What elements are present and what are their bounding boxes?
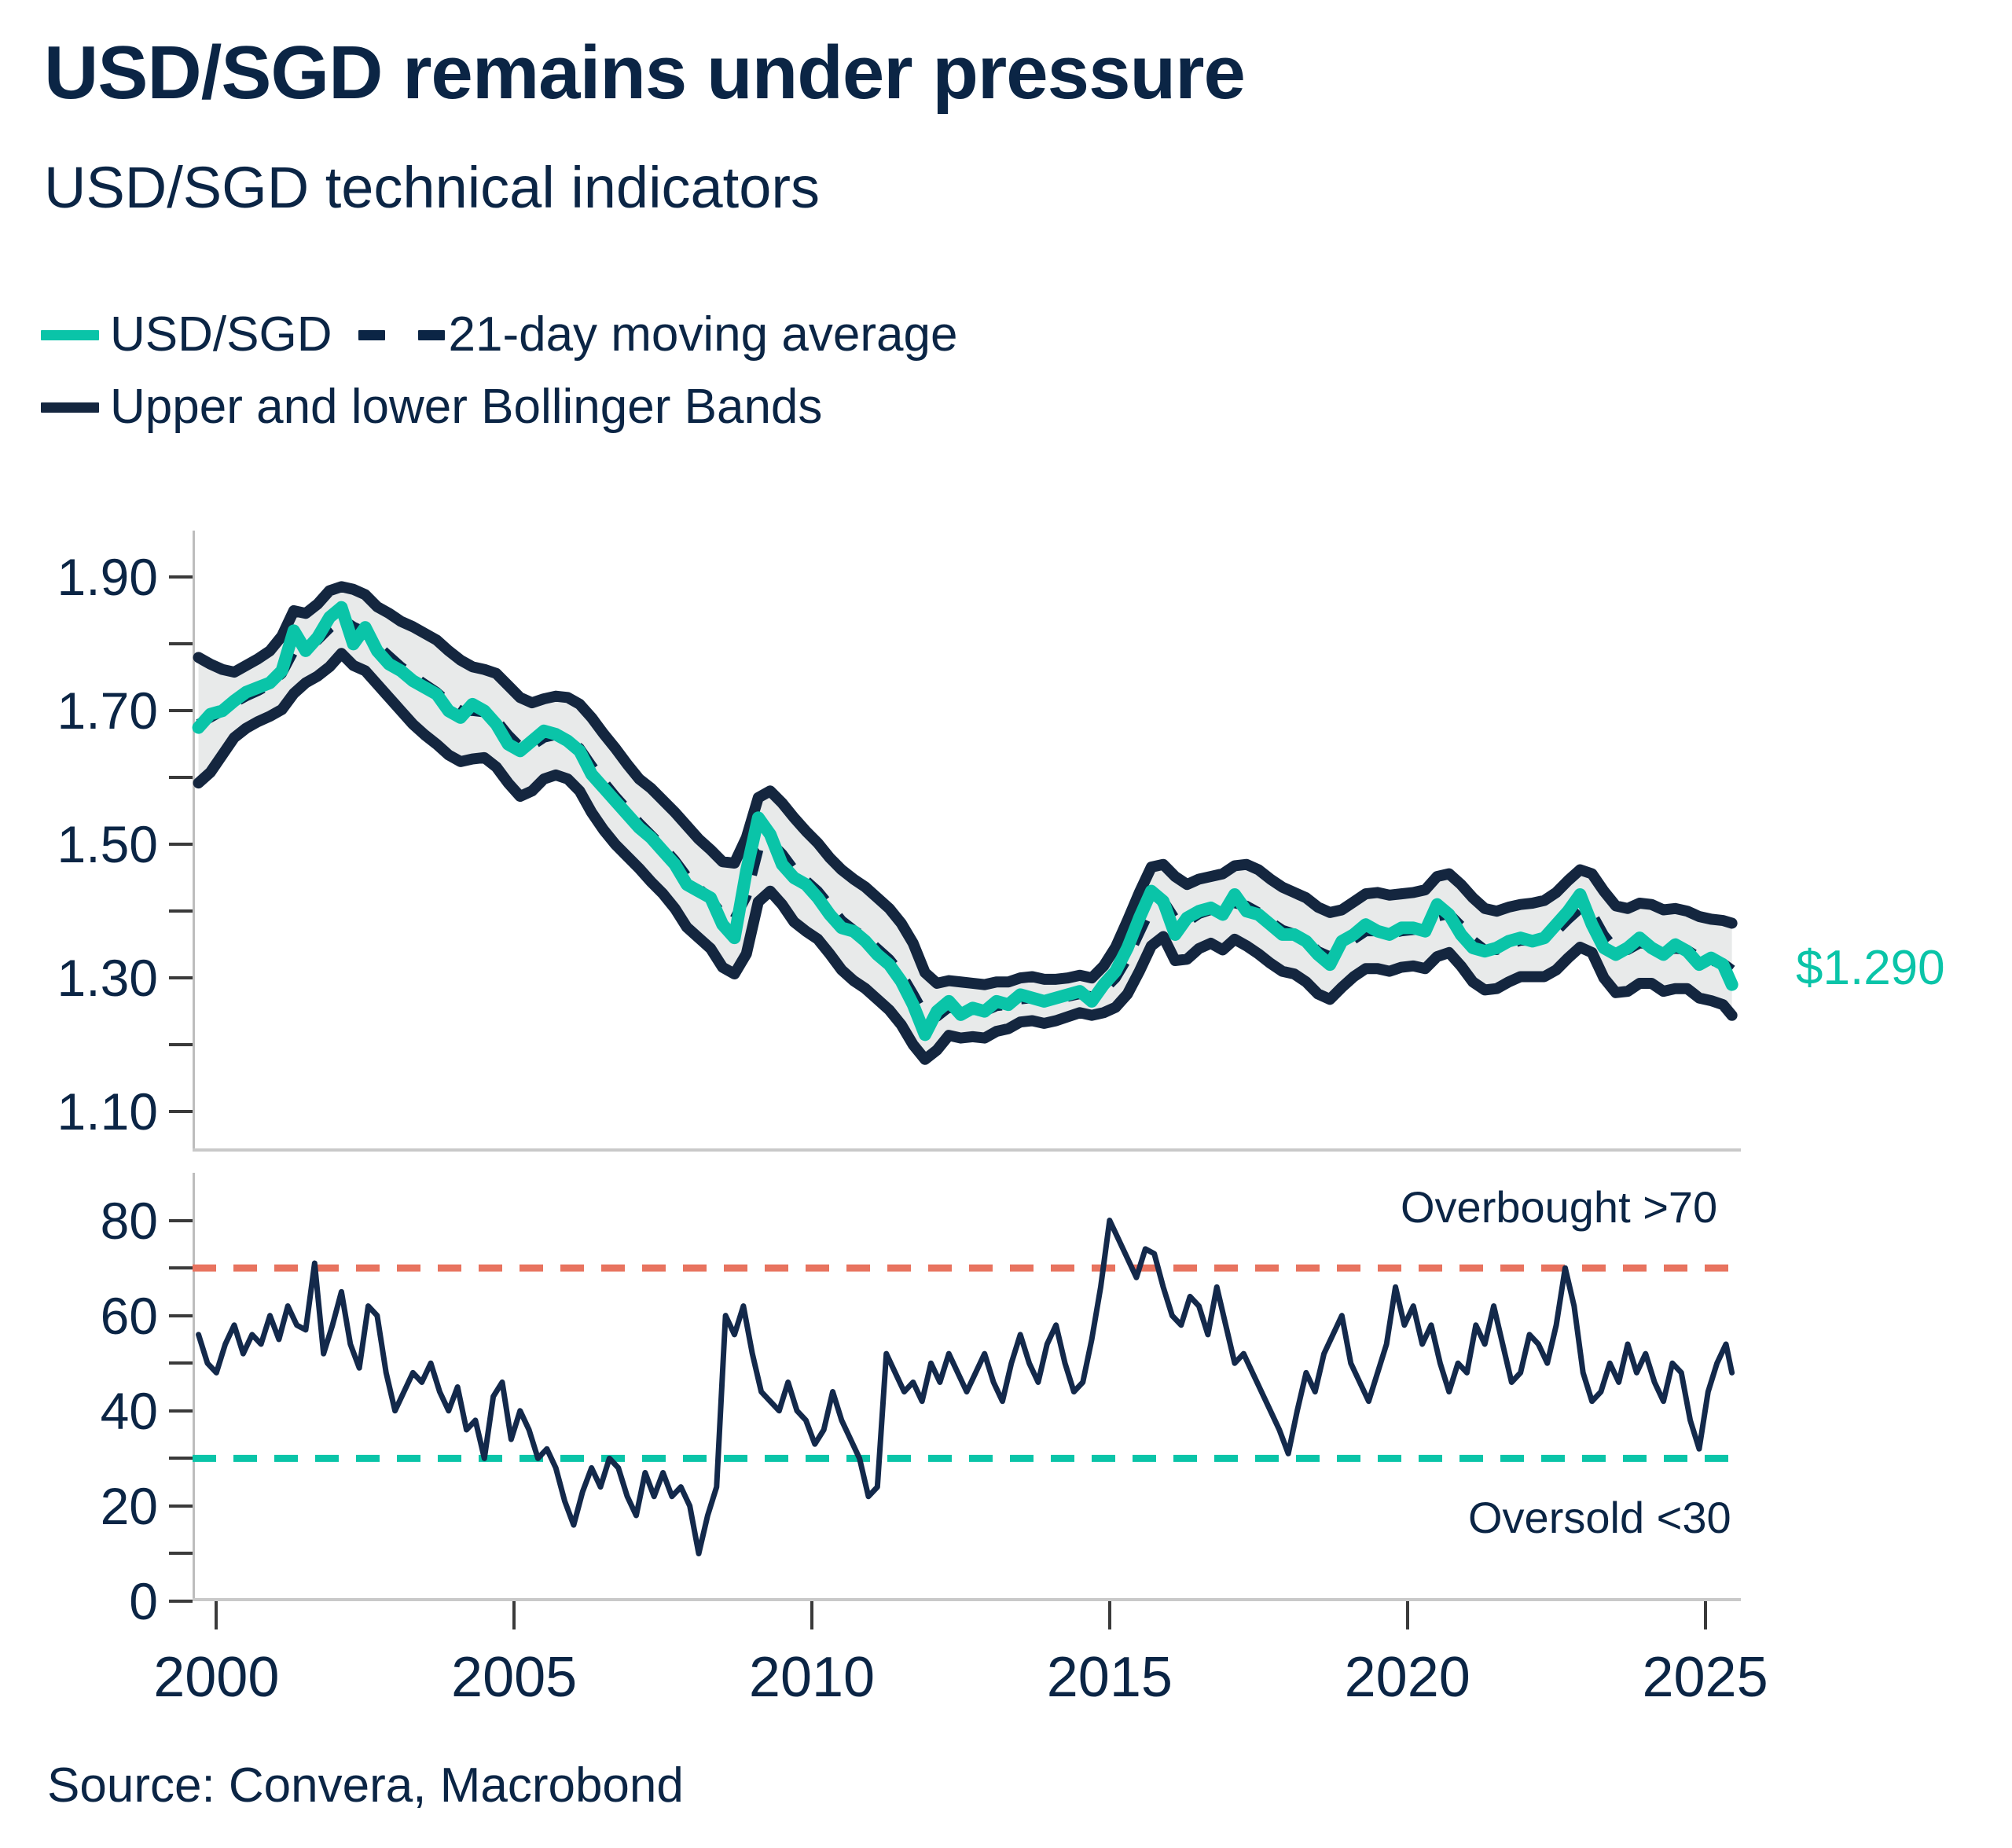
x-tick [1108,1601,1111,1629]
y-tick [169,1110,193,1113]
legend-row-2: Upper and lower Bollinger Bands [41,371,957,443]
y-tick-minor [169,1043,193,1046]
y-tick-label: 1.50 [57,814,158,874]
x-tick [1406,1601,1409,1629]
oversold-annotation: Oversold <30 [1468,1492,1731,1543]
legend-item-bollinger: Upper and lower Bollinger Bands [41,383,822,432]
x-tick-label: 2005 [451,1645,577,1710]
y-tick-label: 1.70 [57,681,158,740]
x-tick [215,1601,218,1629]
y-tick-minor [169,1552,193,1555]
legend-item-usdsgd: USD/SGD [41,310,332,359]
x-tick [810,1601,813,1629]
chart-subtitle: USD/SGD technical indicators [44,154,820,221]
latest-value-callout: $1.290 [1796,940,1945,996]
y-tick [169,1314,193,1317]
price-plot-svg [193,531,1741,1152]
solid-line-swatch-icon [41,402,99,413]
x-tick [512,1601,516,1629]
y-tick-minor [169,776,193,779]
y-tick-minor [169,909,193,913]
legend-label-usdsgd: USD/SGD [110,310,332,359]
overbought-annotation: Overbought >70 [1401,1181,1717,1233]
x-tick-label: 2010 [749,1645,875,1710]
y-tick [169,1600,193,1603]
y-tick [169,843,193,846]
x-tick-label: 2000 [153,1645,279,1710]
y-tick-label: 0 [129,1571,158,1631]
y-tick [169,1504,193,1508]
legend-row-1: USD/SGD 21-day moving average [41,299,957,371]
y-tick [169,976,193,979]
x-tick-label: 2020 [1345,1645,1470,1710]
y-tick-label: 80 [101,1191,158,1251]
solid-line-swatch-icon [41,330,99,340]
x-tick-label: 2025 [1642,1645,1768,1710]
y-tick [169,1219,193,1222]
y-tick-label: 1.30 [57,948,158,1008]
price-chart-panel: 1.101.301.501.701.90 [193,531,1741,1152]
chart-legend: USD/SGD 21-day moving average Upper and … [41,299,957,443]
y-tick-label: 40 [101,1381,158,1441]
source-note: Source: Convera, Macrobond [47,1758,684,1813]
y-tick-minor [169,1361,193,1365]
dashed-line-swatch-icon [358,330,445,340]
chart-root: USD/SGD remains under pressure USD/SGD t… [0,0,2012,1848]
y-tick-label: 20 [101,1476,158,1536]
y-tick-minor [169,1266,193,1269]
y-tick-label: 1.90 [57,547,158,607]
y-tick-label: 1.10 [57,1082,158,1141]
y-tick [169,709,193,712]
x-tick [1704,1601,1707,1629]
y-tick [169,1409,193,1413]
y-tick-minor [169,1457,193,1460]
y-tick-label: 60 [101,1286,158,1346]
page-title: USD/SGD remains under pressure [44,30,1245,116]
y-tick [169,575,193,579]
legend-label-bollinger: Upper and lower Bollinger Bands [110,383,822,432]
legend-item-moving-average: 21-day moving average [358,310,957,359]
x-tick-label: 2015 [1047,1645,1173,1710]
y-tick-minor [169,642,193,645]
legend-label-moving-average: 21-day moving average [448,310,957,359]
